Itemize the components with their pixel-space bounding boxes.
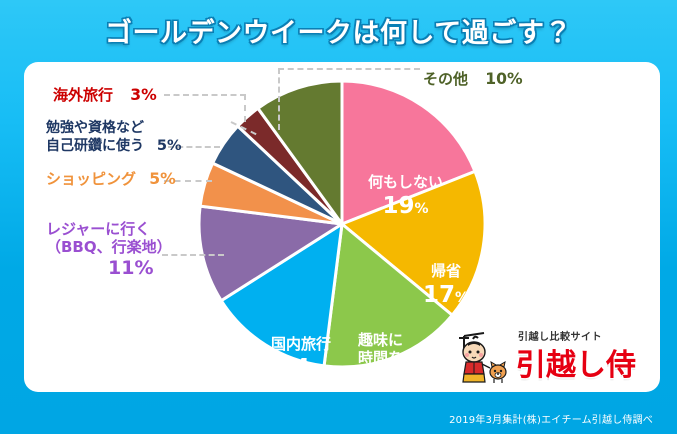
slice-label-shopping-text: ショッピング xyxy=(46,170,136,188)
slice-inner-value-nanimoshinai: 19% xyxy=(368,193,443,220)
slice-inner-text-shumi-line1: 趣味に xyxy=(358,332,433,350)
slice-inner-value-kisei: 17% xyxy=(423,282,469,309)
pie-slices xyxy=(199,81,485,367)
slice-inner-text-nanimoshinai: 何もしない xyxy=(368,174,443,192)
slice-label-kaigai-text: 海外旅行 xyxy=(53,86,113,104)
slice-label-sonota: その他 10% xyxy=(423,70,523,89)
slice-label-leisure: レジャーに行く （BBQ、行楽地） 11% xyxy=(46,220,172,280)
slice-inner-value-kokunai: 14% xyxy=(271,355,331,382)
leader-line-sonota-vertical xyxy=(278,68,280,130)
slice-value-leisure: 11% xyxy=(108,257,153,280)
slice-inner-label-nanimoshinai: 何もしない 19% xyxy=(368,174,443,220)
page-title: ゴールデンウイークは何して過ごす？ xyxy=(105,11,572,50)
samurai-mascot-icon xyxy=(454,326,512,384)
slice-inner-text-kokunai: 国内旅行 xyxy=(271,336,331,354)
slice-value-kaigai: 3% xyxy=(130,86,156,104)
slice-inner-text-shumi-line2: 時間を使う xyxy=(358,350,433,368)
slice-value-benkyo: 5% xyxy=(157,137,182,154)
slice-label-leisure-line2: （BBQ、行楽地） xyxy=(46,238,172,256)
slice-label-benkyo: 勉強や資格など 自己研鑽に使う 5% xyxy=(46,120,182,155)
slice-inner-label-kisei: 帰省 17% xyxy=(423,263,469,309)
logo-brand-name: 引越し侍 xyxy=(516,340,636,384)
title-bar: ゴールデンウイークは何して過ごす？ xyxy=(0,0,677,60)
slice-label-shopping: ショッピング 5% xyxy=(46,170,176,189)
slice-value-sonota: 10% xyxy=(485,70,522,88)
slice-label-kaigai-ryoko: 海外旅行 3% xyxy=(53,86,157,105)
slice-label-benkyo-line2: 自己研鑽に使う xyxy=(46,138,144,154)
pie-chart-svg xyxy=(196,78,488,370)
slice-value-shopping: 5% xyxy=(149,170,175,188)
slice-label-benkyo-line1: 勉強や資格など xyxy=(46,120,144,136)
slice-label-leisure-line1: レジャーに行く xyxy=(46,220,150,238)
slice-inner-value-shumi: 16% xyxy=(358,368,433,395)
leader-line-kaigai xyxy=(164,94,246,96)
source-note: 2019年3月集計(株)エイチーム引越し侍調べ xyxy=(449,411,653,426)
chart-card: 海外旅行 3% 勉強や資格など 自己研鑽に使う 5% ショッピング 5% レジャ… xyxy=(24,62,660,392)
slice-inner-text-kisei: 帰省 xyxy=(423,263,469,281)
brand-logo[interactable]: 引越し比較サイト 引越し侍 xyxy=(452,324,642,386)
infographic-root: ゴールデンウイークは何して過ごす？ 海外旅行 xyxy=(0,0,677,434)
slice-label-sonota-text: その他 xyxy=(423,70,468,88)
leader-line-sonota xyxy=(278,68,420,70)
leader-line-kaigai-vertical xyxy=(244,94,246,122)
slice-inner-label-kokunai-ryoko: 国内旅行 14% xyxy=(271,336,331,382)
slice-inner-label-shumi: 趣味に 時間を使う 16% xyxy=(358,332,433,396)
